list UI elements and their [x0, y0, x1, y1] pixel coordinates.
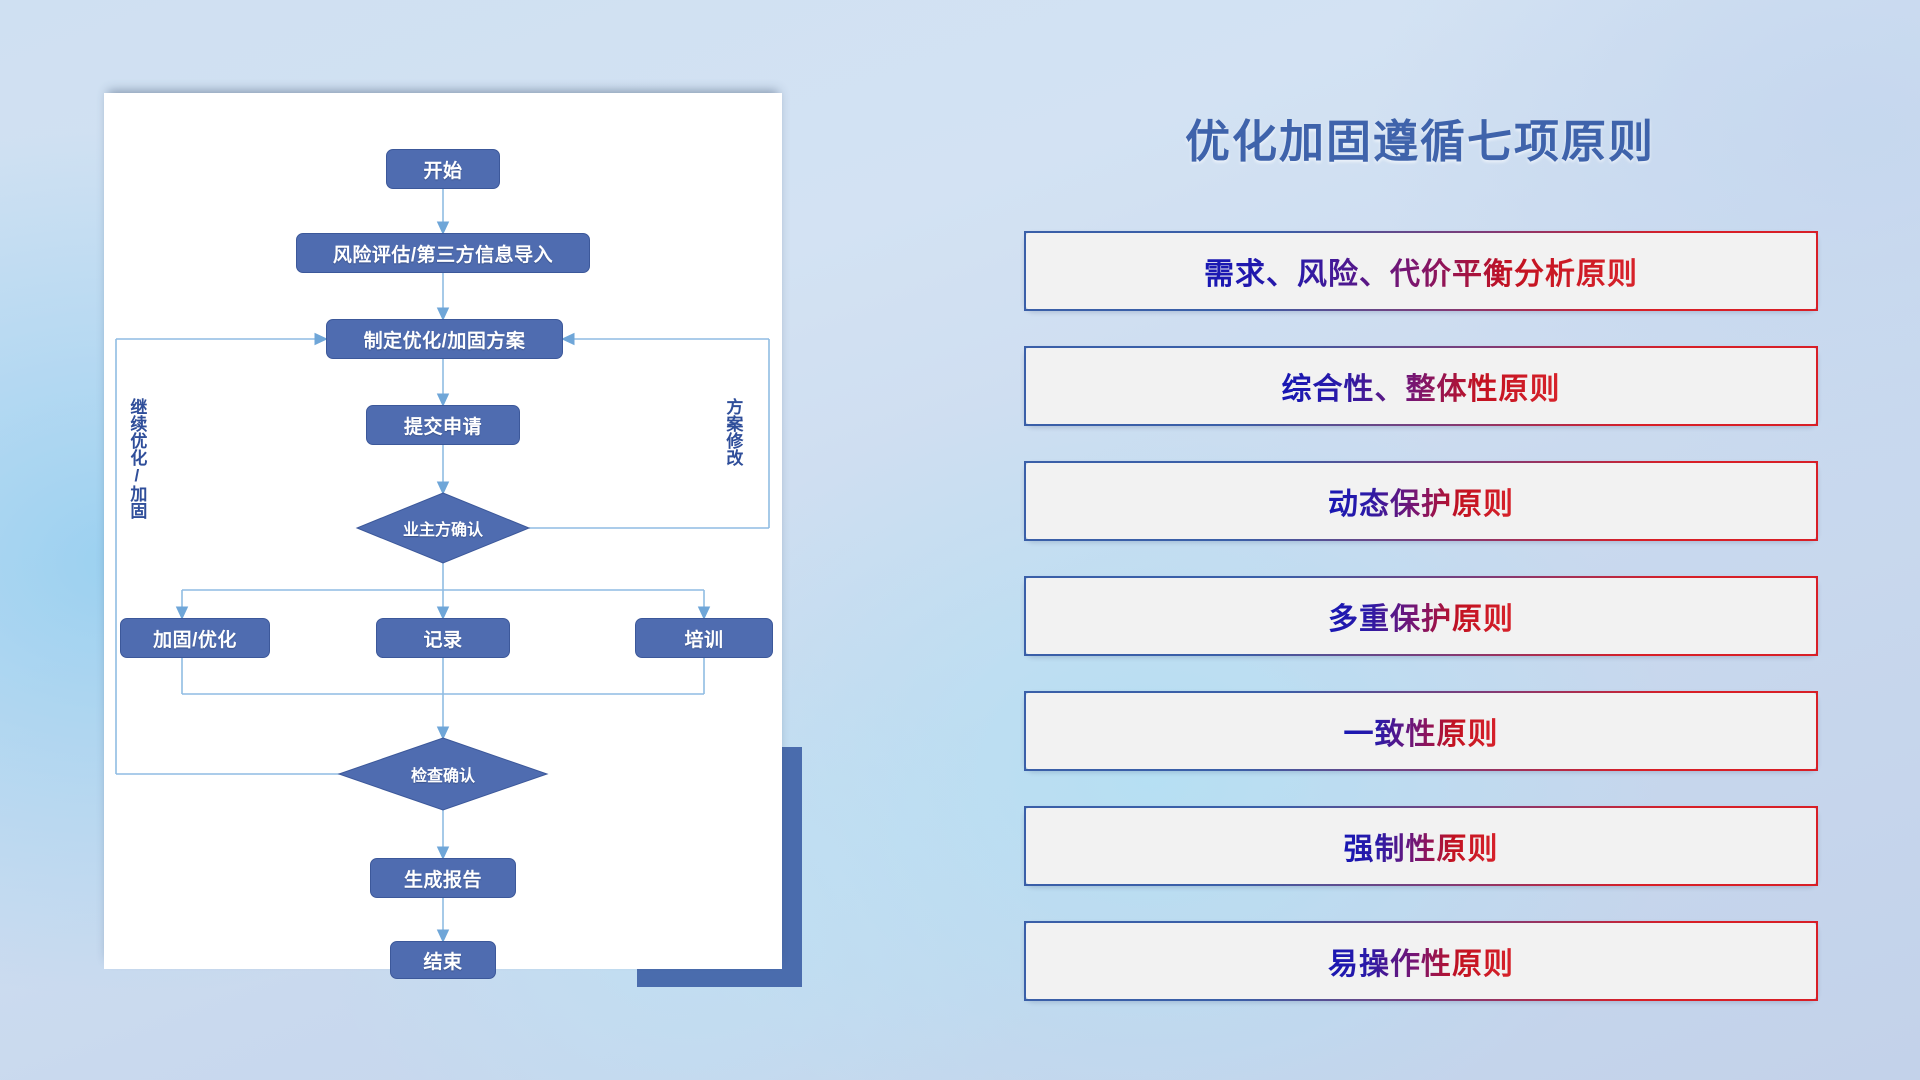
- flow-node-generate-report[interactable]: 生成报告: [370, 858, 516, 898]
- edge-label-plan-revision: 方案修改: [724, 398, 741, 508]
- slide-canvas: 开始 风险评估/第三方信息导入 制定优化/加固方案 提交申请 业主方确认 加固/…: [0, 0, 1920, 1080]
- flow-node-label: 风险评估/第三方信息导入: [333, 240, 553, 267]
- edge-label-continue-optimize: 继续优化/加固: [128, 398, 145, 548]
- principle-card[interactable]: 多重保护原则: [1024, 576, 1818, 656]
- flow-node-label: 培训: [684, 625, 723, 652]
- flow-node-owner-confirm-label: 业主方确认: [368, 514, 518, 542]
- flow-node-check-confirm-label: 检查确认: [368, 760, 518, 788]
- flow-node-label: 检查确认: [411, 762, 475, 786]
- principles-list: 需求、风险、代价平衡分析原则 综合性、整体性原则 动态保护原则 多重保护原则 一…: [1024, 231, 1818, 1036]
- flow-node-record[interactable]: 记录: [376, 618, 510, 658]
- flow-node-risk-assessment[interactable]: 风险评估/第三方信息导入: [296, 233, 590, 273]
- principle-card[interactable]: 动态保护原则: [1024, 461, 1818, 541]
- flow-node-label: 制定优化/加固方案: [364, 326, 526, 353]
- principle-label: 综合性、整体性原则: [1282, 364, 1561, 408]
- flow-node-label: 生成报告: [404, 865, 482, 892]
- flow-node-reinforce[interactable]: 加固/优化: [120, 618, 270, 658]
- flowchart-panel: 开始 风险评估/第三方信息导入 制定优化/加固方案 提交申请 业主方确认 加固/…: [104, 93, 782, 969]
- principle-card[interactable]: 需求、风险、代价平衡分析原则: [1024, 231, 1818, 311]
- flow-node-plan[interactable]: 制定优化/加固方案: [326, 319, 563, 359]
- principle-label: 易操作性原则: [1328, 939, 1514, 983]
- principle-label: 一致性原则: [1344, 709, 1499, 753]
- principle-card[interactable]: 一致性原则: [1024, 691, 1818, 771]
- flow-node-label: 记录: [423, 625, 462, 652]
- flow-node-training[interactable]: 培训: [635, 618, 773, 658]
- principle-card[interactable]: 综合性、整体性原则: [1024, 346, 1818, 426]
- flow-node-label: 提交申请: [404, 412, 482, 439]
- principle-card[interactable]: 强制性原则: [1024, 806, 1818, 886]
- principle-label: 多重保护原则: [1328, 594, 1514, 638]
- principle-label: 强制性原则: [1344, 824, 1499, 868]
- principle-card[interactable]: 易操作性原则: [1024, 921, 1818, 1001]
- page-title: 优化加固遵循七项原则: [1020, 105, 1820, 170]
- flow-node-label: 加固/优化: [153, 625, 237, 652]
- flow-node-label: 业主方确认: [403, 516, 483, 540]
- flow-node-start[interactable]: 开始: [386, 149, 500, 189]
- flow-node-label: 结束: [423, 947, 462, 974]
- principle-label: 需求、风险、代价平衡分析原则: [1204, 249, 1638, 293]
- flow-node-end[interactable]: 结束: [390, 941, 496, 979]
- flow-node-submit-application[interactable]: 提交申请: [366, 405, 520, 445]
- principle-label: 动态保护原则: [1328, 479, 1514, 523]
- flow-node-label: 开始: [423, 156, 462, 183]
